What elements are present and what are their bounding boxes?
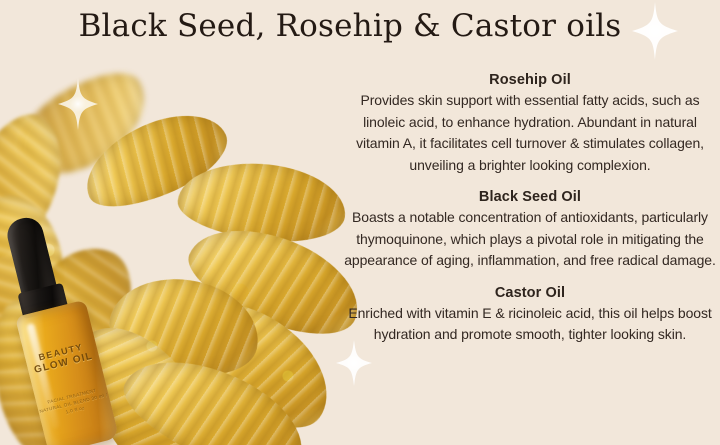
oil-body: Enriched with vitamin E & ricinoleic aci… xyxy=(340,303,720,346)
oil-heading: Black Seed Oil xyxy=(340,189,720,205)
oil-body: Boasts a notable concentration of antiox… xyxy=(340,207,720,272)
oil-heading: Rosehip Oil xyxy=(340,72,720,88)
oil-section-black-seed: Black Seed Oil Boasts a notable concentr… xyxy=(340,189,720,272)
promo-graphic: BEAUTY GLOW OIL FACIAL TREATMENT NATURAL… xyxy=(0,0,720,445)
oil-section-rosehip: Rosehip Oil Provides skin support with e… xyxy=(340,72,720,176)
bottle-sub-text: FACIAL TREATMENT NATURAL OIL BLEND 30 ml… xyxy=(36,385,111,422)
oil-section-castor: Castor Oil Enriched with vitamin E & ric… xyxy=(340,285,720,346)
oil-descriptions: Rosehip Oil Provides skin support with e… xyxy=(340,72,720,359)
oil-heading: Castor Oil xyxy=(340,285,720,301)
oil-body: Provides skin support with essential fat… xyxy=(340,90,720,176)
page-title: Black Seed, Rosehip & Castor oils xyxy=(0,8,700,44)
